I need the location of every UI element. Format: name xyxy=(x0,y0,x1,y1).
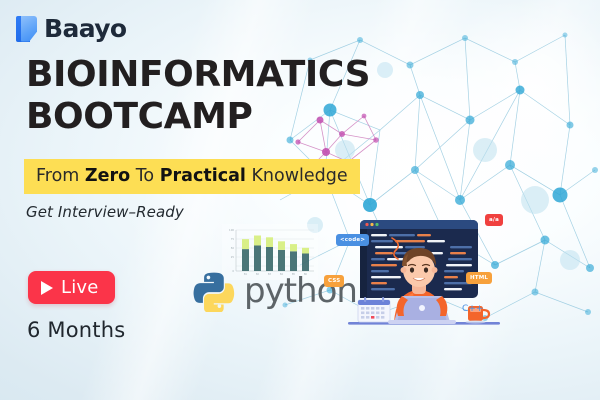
tag-code: <code> xyxy=(336,234,369,246)
brand-logo[interactable]: Baayo xyxy=(16,14,127,43)
brand-name: Baayo xyxy=(44,14,127,43)
tag-html: HTML xyxy=(466,272,492,284)
tagline-suffix: Knowledge xyxy=(246,166,348,186)
tag-alpha: a/a xyxy=(485,214,503,226)
tagline-bold-practical: Practical xyxy=(160,166,246,186)
play-triangle-icon xyxy=(41,281,53,295)
headline-line-1: BIOINFORMATICS xyxy=(26,54,370,95)
developer-at-laptop-illustration: <code> CSS HTML a/a C++ xyxy=(340,212,510,347)
svg-text:75: 75 xyxy=(231,237,235,241)
course-duration: 6 Months xyxy=(27,318,125,342)
live-badge-label: Live xyxy=(61,277,99,298)
subheading: Get Interview–Ready xyxy=(26,203,184,221)
tagline-highlight: From Zero To Practical Knowledge xyxy=(24,159,360,194)
page-title: BIOINFORMATICS BOOTCAMP xyxy=(26,54,370,138)
tag-css: CSS xyxy=(324,275,344,287)
headline-line-2: BOOTCAMP xyxy=(26,96,370,138)
tagline-prefix: From xyxy=(36,166,85,186)
promo-banner: Baayo BIOINFORMATICS BOOTCAMP From Zero … xyxy=(0,0,600,400)
svg-text:50: 50 xyxy=(231,246,235,250)
tagline-bold-zero: Zero xyxy=(85,166,130,186)
svg-text:25: 25 xyxy=(231,255,235,259)
cpp-label: C++ xyxy=(462,304,483,314)
svg-text:100: 100 xyxy=(229,228,234,232)
tagline-middle: To xyxy=(130,166,160,186)
python-snakes-icon xyxy=(193,270,235,312)
baayo-logo-icon xyxy=(16,16,37,42)
live-badge[interactable]: Live xyxy=(28,271,115,304)
